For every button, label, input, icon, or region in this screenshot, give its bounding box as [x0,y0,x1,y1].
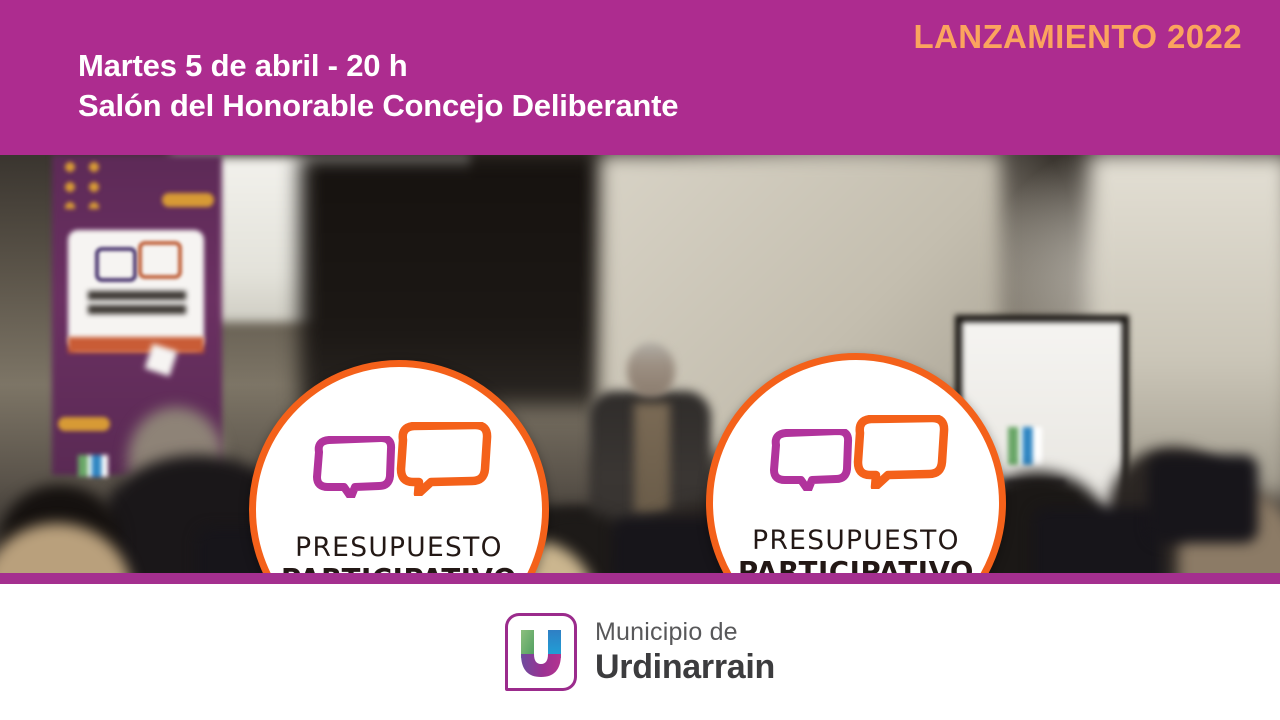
speech-bubbles-logo [768,415,950,510]
municipality-u-logo-icon [505,613,577,691]
speech-bubble-orange-icon [395,422,493,496]
rollup-orange-bar [68,337,204,353]
speech-bubbles-logo [311,422,493,517]
speech-bubble-orange-icon [852,415,950,489]
footer-band: Municipio de Urdinarrain [0,584,1280,720]
magenta-divider [0,573,1280,584]
event-details: Martes 5 de abril - 20 h Salón del Honor… [78,46,678,126]
badge-word-presupuesto: PRESUPUESTO [249,532,549,563]
rollup-municipality-u-icon [78,455,108,477]
rollup-text-line-2 [88,305,186,314]
municipality-logo-lockup: Municipio de Urdinarrain [505,613,775,691]
banner-right-u-icon [1008,427,1042,465]
municipality-name: Municipio de Urdinarrain [595,620,775,684]
badge-word-participativo: PARTICIPATIVO [706,556,1006,573]
rollup-dot-pattern [62,161,172,209]
event-photo: PRESUPUESTO PARTICIPATIVO JUVENIL PRESUP… [0,155,1280,573]
header-band: LANZAMIENTO 2022 Martes 5 de abril - 20 … [0,0,1280,155]
rollup-white-card [68,230,204,350]
speech-bubble-purple-icon [768,429,853,491]
rollup-pill-bottom [58,417,110,431]
event-date-line: Martes 5 de abril - 20 h [78,46,678,86]
launch-tag: LANZAMIENTO 2022 [913,18,1242,56]
speech-bubble-purple-icon [311,436,396,498]
poster: LANZAMIENTO 2022 Martes 5 de abril - 20 … [0,0,1280,720]
municipality-title: Urdinarrain [595,650,775,684]
rollup-text-line-1 [88,291,186,300]
badge-word-presupuesto: PRESUPUESTO [706,525,1006,556]
rollup-pill-top [162,193,214,207]
event-venue-line: Salón del Honorable Concejo Deliberante [78,86,678,126]
rollup-speech-bubble-right-icon [138,241,182,279]
chair [1148,455,1258,543]
speaker-head [627,343,675,397]
badge-presupuesto-adultos-mayores[interactable]: PRESUPUESTO PARTICIPATIVO ADULTOS MAYORE… [706,353,1006,573]
speaker-shirt [634,403,670,513]
rollup-speech-bubble-left-icon [95,247,137,282]
badge-word-participativo: PARTICIPATIVO [249,563,549,573]
chair [1032,507,1162,573]
u-letter-icon [508,616,574,688]
badge-presupuesto-juvenil[interactable]: PRESUPUESTO PARTICIPATIVO JUVENIL [249,360,549,573]
municipality-prefix: Municipio de [595,620,775,645]
